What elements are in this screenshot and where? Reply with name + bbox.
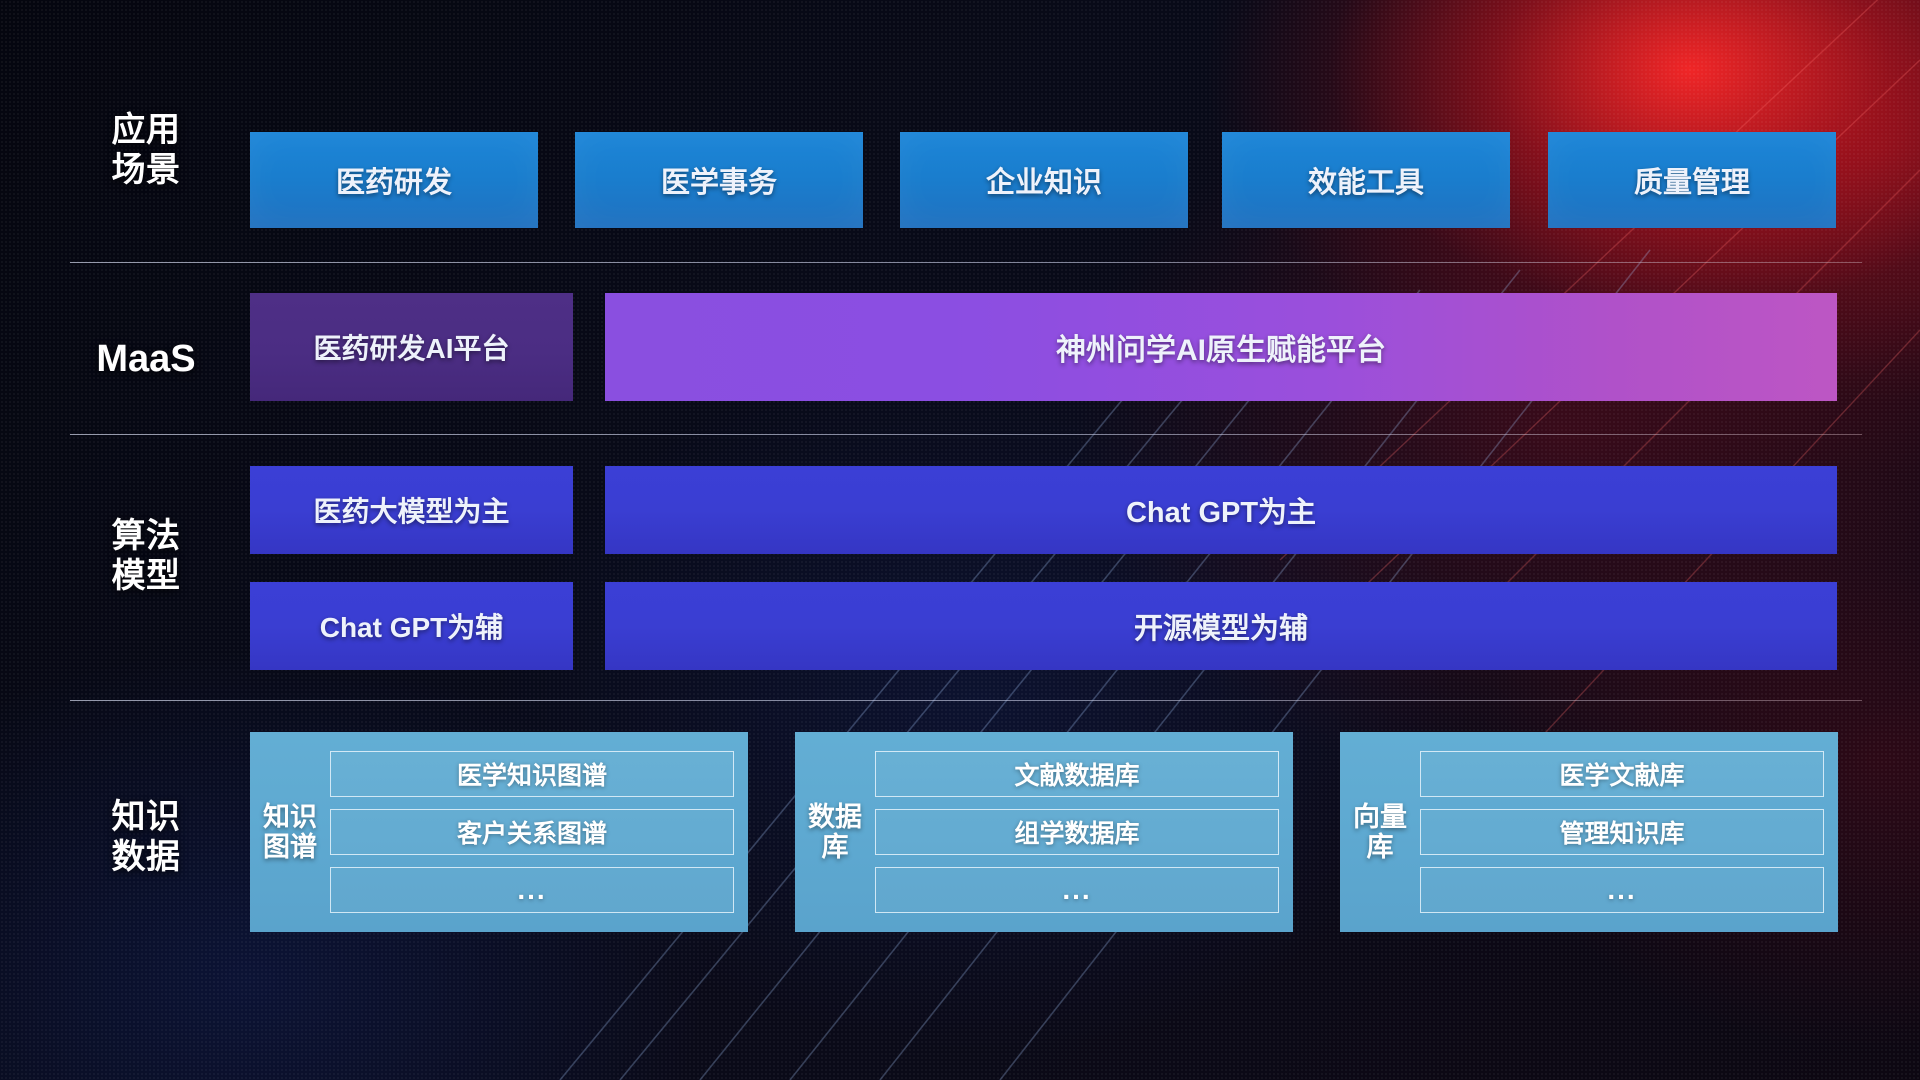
tier-label-algorithm-models: 算法 模型	[66, 516, 226, 596]
knowledge-group-items: 文献数据库 组学数据库 ...	[875, 744, 1279, 920]
algorithm-box-chatgpt-primary[interactable]: Chat GPT为主	[605, 466, 1837, 554]
divider-after-algorithm-models	[70, 700, 1862, 701]
app-scenario-box-medical-affairs[interactable]: 医学事务	[575, 132, 863, 228]
knowledge-item-medical-knowledge-graph[interactable]: 医学知识图谱	[330, 751, 734, 797]
tier-label-maas: MaaS	[66, 337, 226, 382]
knowledge-item-more[interactable]: ...	[875, 867, 1279, 913]
knowledge-group-database[interactable]: 数据库 文献数据库 组学数据库 ...	[795, 732, 1293, 932]
knowledge-group-side-label-vector-store: 向量库	[1350, 802, 1410, 862]
algorithm-box-open-source-model-secondary[interactable]: 开源模型为辅	[605, 582, 1837, 670]
tier-label-line-1: 知识	[66, 797, 226, 837]
knowledge-item-medical-literature-library[interactable]: 医学文献库	[1420, 751, 1824, 797]
knowledge-group-items: 医学知识图谱 客户关系图谱 ...	[330, 744, 734, 920]
knowledge-item-more[interactable]: ...	[1420, 867, 1824, 913]
app-scenario-box-enterprise-knowledge[interactable]: 企业知识	[900, 132, 1188, 228]
knowledge-item-management-knowledge-base[interactable]: 管理知识库	[1420, 809, 1824, 855]
tier-label-line-2: 模型	[66, 556, 226, 596]
knowledge-item-more[interactable]: ...	[330, 867, 734, 913]
app-scenario-box-medicine-rd[interactable]: 医药研发	[250, 132, 538, 228]
tier-label-line-1: 算法	[66, 516, 226, 556]
maas-box-shenzhou-wenxue-platform[interactable]: 神州问学AI原生赋能平台	[605, 293, 1837, 401]
tier-label-line-1: 应用	[66, 110, 226, 150]
algorithm-box-medicine-large-model-primary[interactable]: 医药大模型为主	[250, 466, 573, 554]
tier-label-line-2: 数据	[66, 837, 226, 877]
tier-label-knowledge-data: 知识 数据	[66, 797, 226, 877]
knowledge-item-customer-relation-graph[interactable]: 客户关系图谱	[330, 809, 734, 855]
architecture-diagram-canvas: 应用 场景 医药研发 医学事务 企业知识 效能工具 质量管理 MaaS 医药研发…	[0, 0, 1920, 1080]
divider-after-maas	[70, 434, 1862, 435]
algorithm-box-chatgpt-secondary[interactable]: Chat GPT为辅	[250, 582, 573, 670]
knowledge-group-knowledge-graph[interactable]: 知识图谱 医学知识图谱 客户关系图谱 ...	[250, 732, 748, 932]
app-scenario-box-efficiency-tools[interactable]: 效能工具	[1222, 132, 1510, 228]
divider-after-application-scenarios	[70, 262, 1862, 263]
knowledge-group-vector-store[interactable]: 向量库 医学文献库 管理知识库 ...	[1340, 732, 1838, 932]
knowledge-item-literature-database[interactable]: 文献数据库	[875, 751, 1279, 797]
maas-box-medicine-rd-ai-platform[interactable]: 医药研发AI平台	[250, 293, 573, 401]
tier-label-application-scenarios: 应用 场景	[66, 110, 226, 190]
knowledge-item-omics-database[interactable]: 组学数据库	[875, 809, 1279, 855]
tier-label-line-2: 场景	[66, 150, 226, 190]
knowledge-group-side-label-knowledge-graph: 知识图谱	[260, 802, 320, 862]
knowledge-group-side-label-database: 数据库	[805, 802, 865, 862]
app-scenario-box-quality-management[interactable]: 质量管理	[1548, 132, 1836, 228]
knowledge-group-items: 医学文献库 管理知识库 ...	[1420, 744, 1824, 920]
